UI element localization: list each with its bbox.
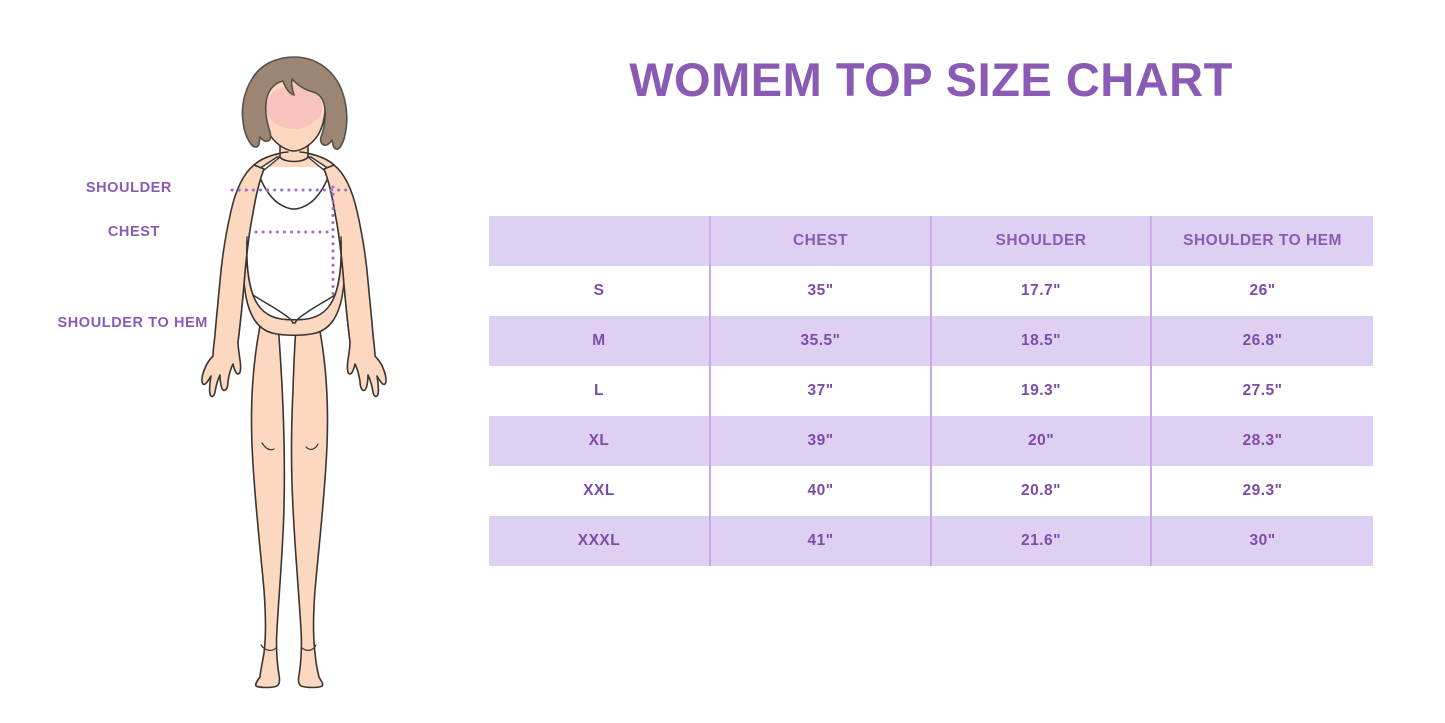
cell-shoulder-to-hem: 26.8" (1151, 316, 1373, 366)
table-header-shoulder-to-hem: SHOULDER TO HEM (1151, 216, 1373, 266)
cell-shoulder-to-hem: 26" (1151, 266, 1373, 316)
female-body-illustration (180, 45, 410, 690)
cell-shoulder-to-hem: 27.5" (1151, 366, 1373, 416)
page-title: WOMEM TOP SIZE CHART (489, 52, 1373, 107)
measurement-label-chest: CHEST (0, 224, 160, 240)
cell-size: S (489, 266, 710, 316)
cell-shoulder: 20.8" (931, 466, 1151, 516)
cell-chest: 35.5" (710, 316, 931, 366)
table-header-row: CHEST SHOULDER SHOULDER TO HEM (489, 216, 1373, 266)
cell-chest: 39" (710, 416, 931, 466)
cell-size: XXXL (489, 516, 710, 566)
cell-shoulder: 20" (931, 416, 1151, 466)
cell-shoulder: 17.7" (931, 266, 1151, 316)
table-row: S 35" 17.7" 26" (489, 266, 1373, 316)
cell-size: M (489, 316, 710, 366)
measurement-label-shoulder: SHOULDER (0, 180, 172, 196)
cell-chest: 35" (710, 266, 931, 316)
cell-chest: 41" (710, 516, 931, 566)
cell-chest: 40" (710, 466, 931, 516)
cell-shoulder: 19.3" (931, 366, 1151, 416)
table-row: M 35.5" 18.5" 26.8" (489, 316, 1373, 366)
table-header-size (489, 216, 710, 266)
table-row: XXXL 41" 21.6" 30" (489, 516, 1373, 566)
table-row: L 37" 19.3" 27.5" (489, 366, 1373, 416)
table-row: XL 39" 20" 28.3" (489, 416, 1373, 466)
cell-shoulder: 21.6" (931, 516, 1151, 566)
cell-shoulder-to-hem: 28.3" (1151, 416, 1373, 466)
size-chart-table: CHEST SHOULDER SHOULDER TO HEM S 35" 17.… (489, 216, 1373, 566)
measurement-label-shoulder-to-hem: SHOULDER TO HEM (0, 315, 208, 331)
cell-size: XXL (489, 466, 710, 516)
left-leg (252, 300, 285, 688)
cell-size: XL (489, 416, 710, 466)
size-chart-page: WOMEM TOP SIZE CHART SHOULDER CHEST SHOU… (0, 0, 1445, 723)
cell-shoulder: 18.5" (931, 316, 1151, 366)
cell-chest: 37" (710, 366, 931, 416)
right-leg (292, 300, 328, 688)
table-header-shoulder: SHOULDER (931, 216, 1151, 266)
table-row: XXL 40" 20.8" 29.3" (489, 466, 1373, 516)
cell-size: L (489, 366, 710, 416)
cell-shoulder-to-hem: 30" (1151, 516, 1373, 566)
table-header-chest: CHEST (710, 216, 931, 266)
cell-shoulder-to-hem: 29.3" (1151, 466, 1373, 516)
